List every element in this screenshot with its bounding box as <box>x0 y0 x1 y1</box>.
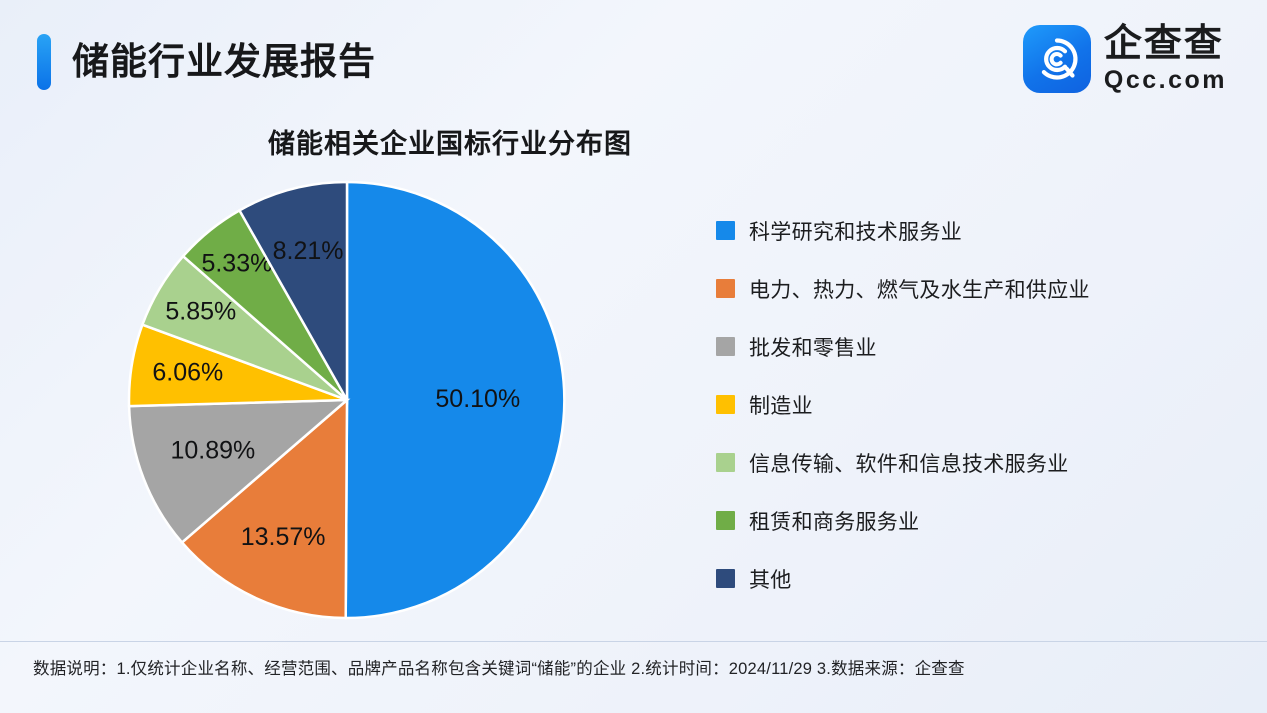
legend-item[interactable]: 租赁和商务服务业 <box>716 508 1196 533</box>
legend-swatch-icon <box>716 395 735 414</box>
pie-slice-label: 6.06% <box>152 359 223 387</box>
chart-legend: 科学研究和技术服务业电力、热力、燃气及水生产和供应业批发和零售业制造业信息传输、… <box>716 218 1196 624</box>
page-header: 储能行业发展报告 企查查 Qcc.com <box>0 0 1267 112</box>
legend-item[interactable]: 批发和零售业 <box>716 334 1196 359</box>
pie-slice-label: 50.10% <box>435 385 520 413</box>
legend-item[interactable]: 信息传输、软件和信息技术服务业 <box>716 450 1196 475</box>
legend-label: 其他 <box>749 564 792 594</box>
legend-item[interactable]: 制造业 <box>716 392 1196 417</box>
legend-swatch-icon <box>716 279 735 298</box>
pie-slice-label: 5.85% <box>165 298 236 326</box>
footer-divider <box>0 641 1267 642</box>
pie-slice-label: 13.57% <box>241 523 326 551</box>
logo-text: 企查查 Qcc.com <box>1104 24 1227 94</box>
qcc-logo-icon <box>1023 25 1091 93</box>
legend-swatch-icon <box>716 511 735 530</box>
legend-label: 信息传输、软件和信息技术服务业 <box>749 448 1069 478</box>
footer-note: 数据说明：1.仅统计企业名称、经营范围、品牌产品名称包含关键词“储能”的企业 2… <box>33 655 1233 679</box>
legend-label: 租赁和商务服务业 <box>749 506 919 536</box>
legend-label: 批发和零售业 <box>749 332 877 362</box>
legend-label: 电力、热力、燃气及水生产和供应业 <box>749 274 1090 304</box>
legend-swatch-icon <box>716 221 735 240</box>
logo-name-cn: 企查查 <box>1104 24 1227 64</box>
legend-item[interactable]: 其他 <box>716 566 1196 591</box>
logo-name-en: Qcc.com <box>1104 66 1227 94</box>
legend-swatch-icon <box>716 569 735 588</box>
pie-slice-label: 8.21% <box>273 237 344 265</box>
legend-label: 制造业 <box>749 390 813 420</box>
legend-item[interactable]: 科学研究和技术服务业 <box>716 218 1196 243</box>
pie-slice-label: 10.89% <box>171 437 256 465</box>
legend-item[interactable]: 电力、热力、燃气及水生产和供应业 <box>716 276 1196 301</box>
pie-chart: 50.10%13.57%10.89%6.06%5.85%5.33%8.21% <box>119 174 579 626</box>
pie-slice-label: 5.33% <box>201 249 272 277</box>
brand-logo: 企查查 Qcc.com <box>1023 24 1227 94</box>
page-title: 储能行业发展报告 <box>72 34 376 90</box>
legend-swatch-icon <box>716 337 735 356</box>
title-accent-bar <box>37 34 51 90</box>
legend-swatch-icon <box>716 453 735 472</box>
legend-label: 科学研究和技术服务业 <box>749 216 962 246</box>
chart-title: 储能相关企业国标行业分布图 <box>0 122 900 161</box>
